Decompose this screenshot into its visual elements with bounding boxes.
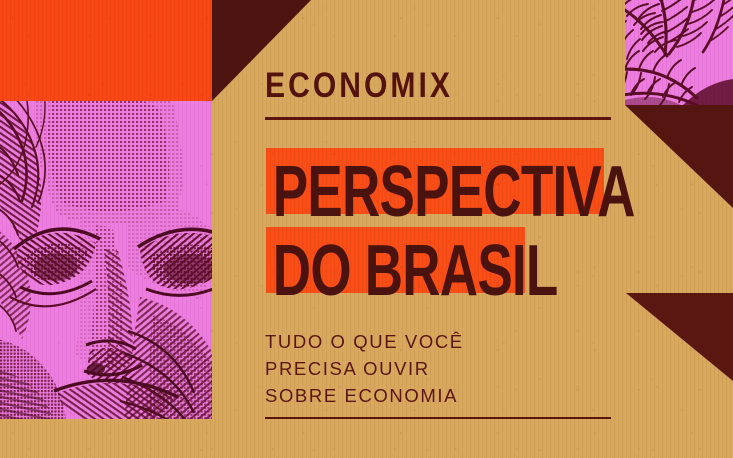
brand-kicker: ECONOMIX (265, 68, 453, 103)
laurel-leaves-engraving (625, 0, 733, 105)
text-column: ECONOMIX PERSPECTIVA DO BRASIL TUDO O QU… (265, 0, 611, 458)
subheadline: TUDO O QUE VOCÊ PRECISA OUVIR SOBRE ECON… (265, 328, 464, 409)
subheadline-line-2: PRECISA OUVIR (265, 355, 464, 382)
subheadline-line-3: SOBRE ECONOMIA (265, 382, 464, 409)
headline-line-2: DO BRASIL (265, 227, 640, 302)
podcast-cover-poster: ECONOMIX PERSPECTIVA DO BRASIL TUDO O QU… (0, 0, 733, 458)
headline-line-1-text: PERSPECTIVA (265, 148, 635, 228)
divider-bottom (265, 417, 611, 419)
headline-line-1: PERSPECTIVA (265, 148, 733, 223)
dark-triangle-right-lower (626, 293, 733, 381)
divider-top (265, 117, 611, 120)
banknote-portrait-engraving (0, 101, 212, 419)
orange-color-block (0, 0, 212, 101)
subheadline-line-1: TUDO O QUE VOCÊ (265, 328, 464, 355)
headline-line-2-text: DO BRASIL (265, 227, 558, 307)
